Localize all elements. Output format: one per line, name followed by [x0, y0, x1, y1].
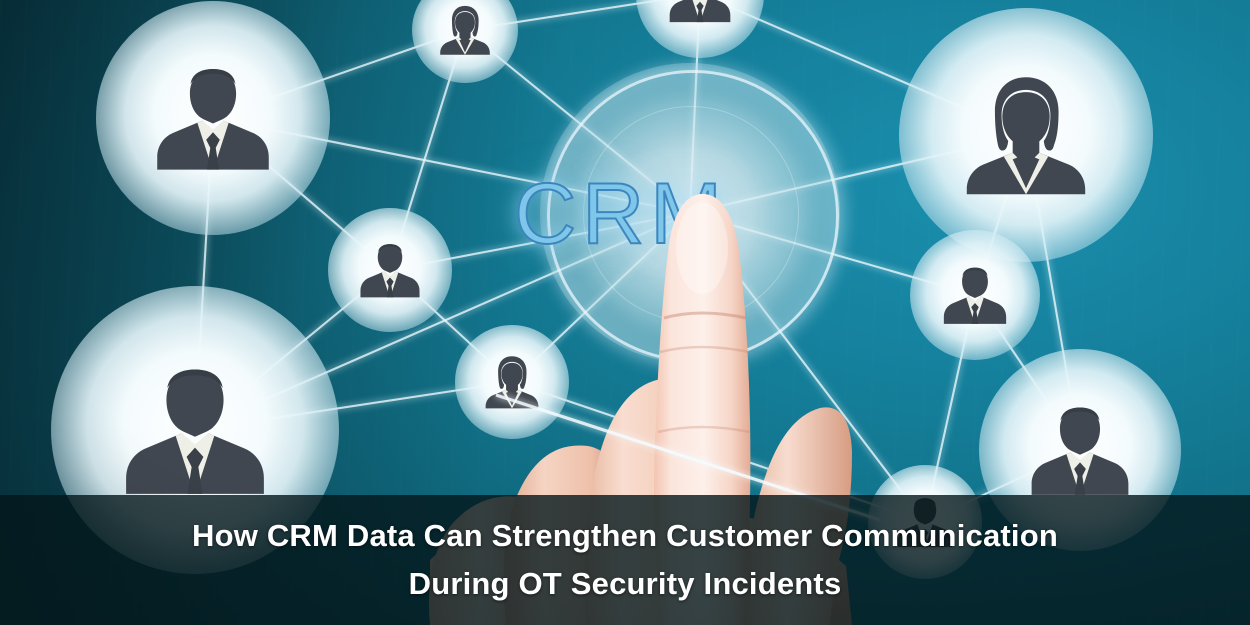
- banner-image: CRM: [0, 0, 1250, 625]
- banner-title: How CRM Data Can Strengthen Customer Com…: [0, 495, 1250, 625]
- title-line-1: How CRM Data Can Strengthen Customer Com…: [192, 515, 1058, 557]
- title-line-2: During OT Security Incidents: [409, 563, 842, 605]
